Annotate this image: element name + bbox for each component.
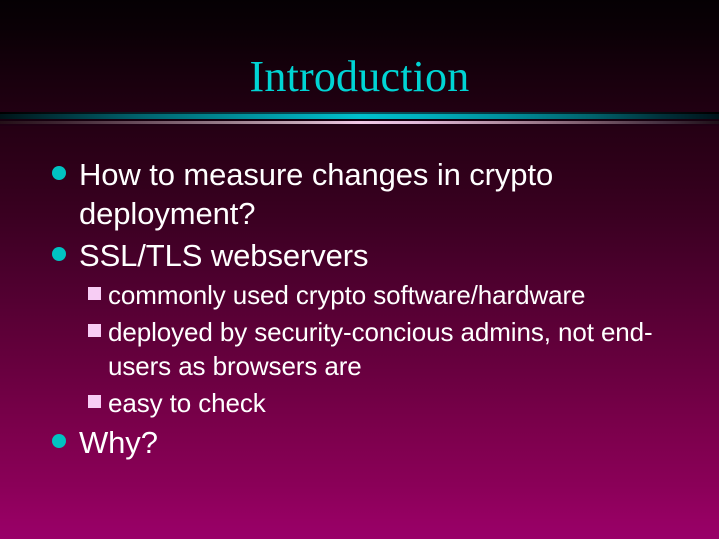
square-bullet-icon	[88, 287, 101, 300]
bullet-item-level2: commonly used crypto software/hardware	[0, 278, 719, 312]
bullet-item-level1: SSL/TLS webservers	[0, 236, 719, 275]
bullet-text: SSL/TLS webservers	[79, 236, 368, 275]
bullet-text: How to measure changes in crypto deploym…	[79, 155, 609, 233]
bullet-text: deployed by security-concious admins, no…	[108, 315, 673, 383]
disc-bullet-icon	[52, 434, 66, 448]
bullet-item-level1: How to measure changes in crypto deploym…	[0, 155, 719, 233]
square-bullet-icon	[88, 324, 101, 337]
title-divider	[0, 112, 719, 126]
disc-bullet-icon	[52, 247, 66, 261]
bullet-text: commonly used crypto software/hardware	[108, 278, 585, 312]
bullet-text: Why?	[79, 423, 158, 462]
presentation-slide: Introduction How to measure changes in c…	[0, 0, 719, 539]
slide-title-area: Introduction	[0, 46, 719, 108]
disc-bullet-icon	[52, 166, 66, 180]
square-bullet-icon	[88, 395, 101, 408]
bullet-item-level1: Why?	[0, 423, 719, 462]
slide-title: Introduction	[250, 55, 470, 99]
slide-body: How to measure changes in crypto deploym…	[0, 155, 719, 465]
bullet-item-level2: deployed by security-concious admins, no…	[0, 315, 719, 383]
bullet-text: easy to check	[108, 386, 266, 420]
bullet-item-level2: easy to check	[0, 386, 719, 420]
divider-bottom-shadow-line	[0, 124, 719, 126]
